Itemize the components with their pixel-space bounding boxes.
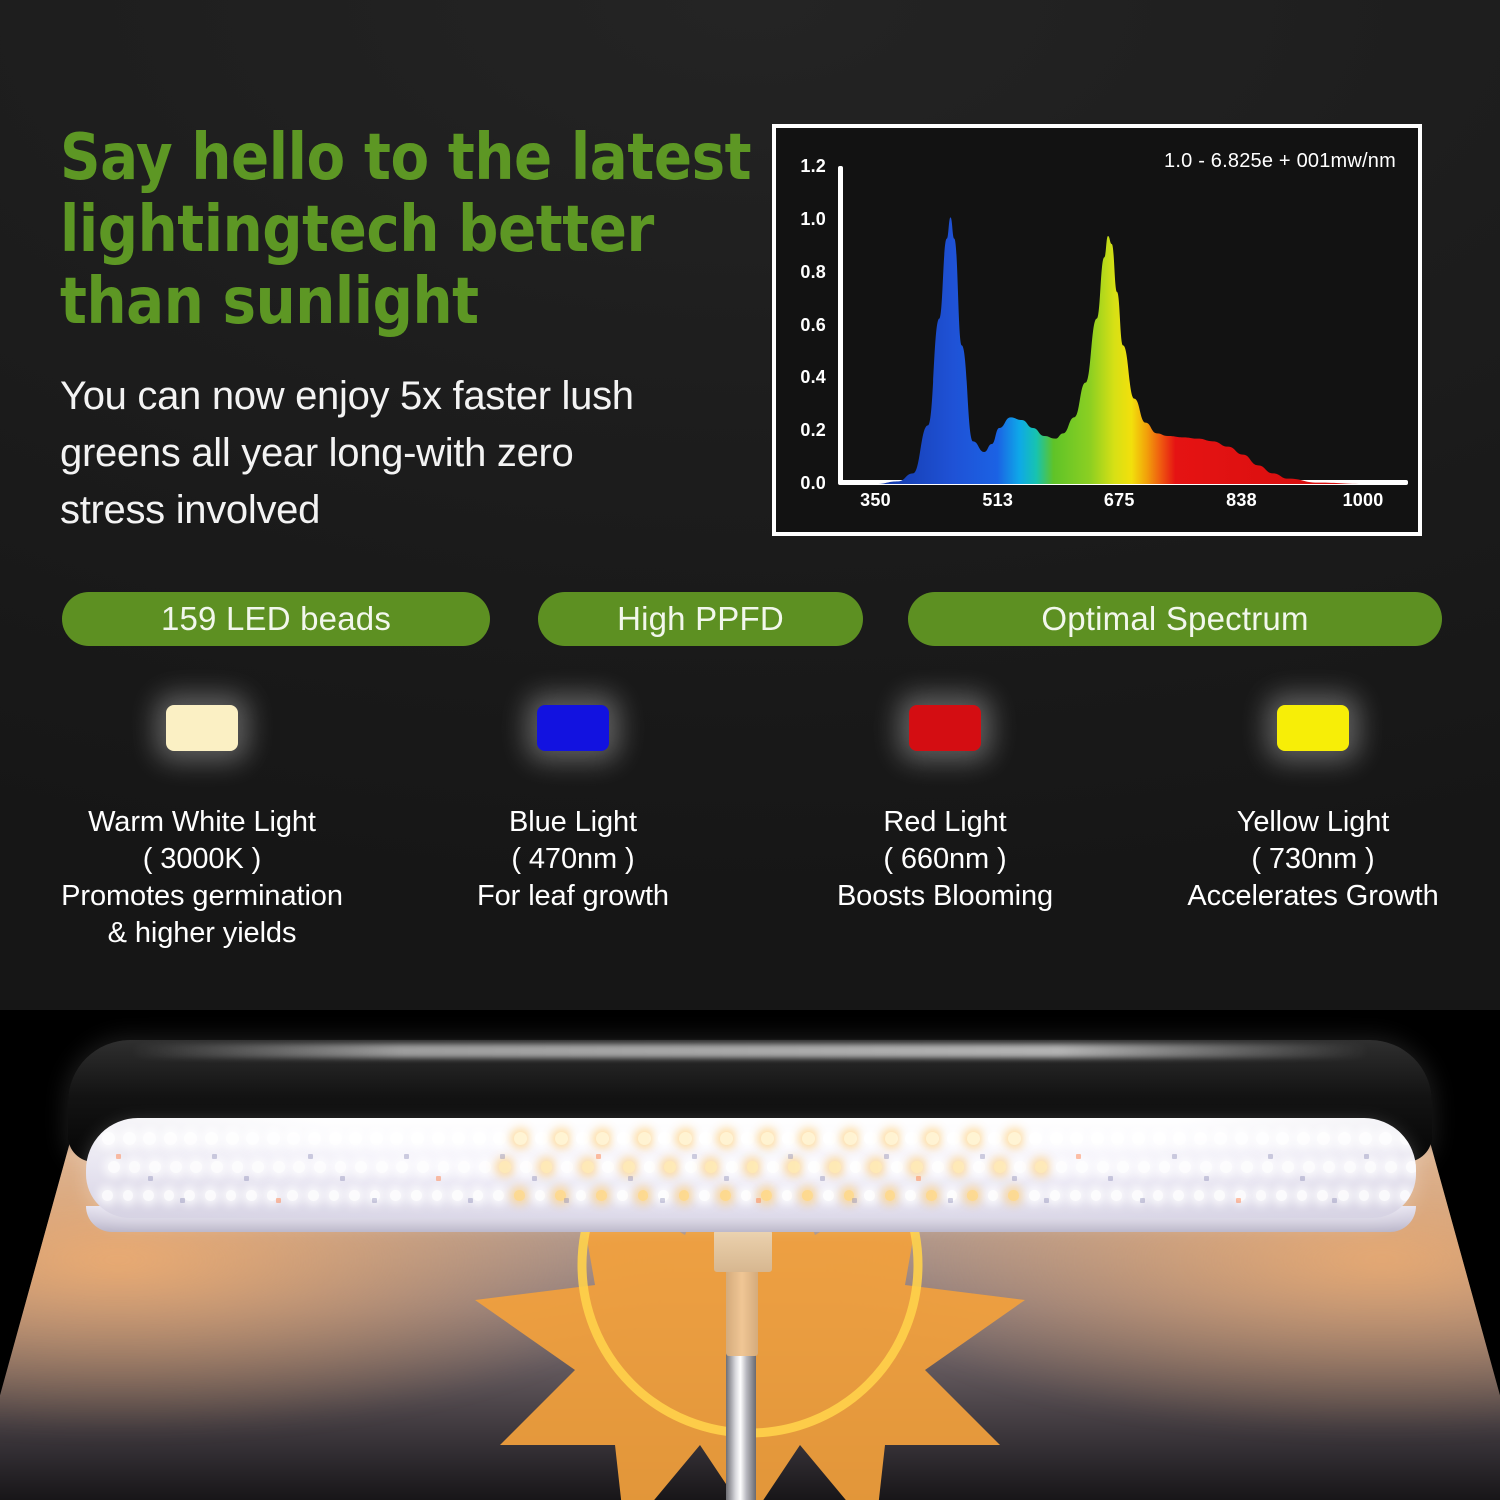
led-bead bbox=[170, 1161, 182, 1173]
led-type-name: Blue Light bbox=[477, 804, 669, 841]
led-bead bbox=[726, 1161, 738, 1173]
board-chip-marking bbox=[436, 1176, 441, 1181]
led-bead bbox=[432, 1190, 443, 1201]
led-bead bbox=[1050, 1132, 1063, 1145]
board-chip-marking bbox=[116, 1154, 121, 1159]
led-bead bbox=[994, 1161, 1006, 1173]
board-chip-marking bbox=[788, 1154, 793, 1159]
badge-label: High PPFD bbox=[617, 600, 784, 638]
board-chip-marking bbox=[340, 1176, 345, 1181]
lamp-pole bbox=[726, 1340, 756, 1500]
led-bead bbox=[1365, 1161, 1377, 1173]
led-bead bbox=[864, 1190, 875, 1201]
led-bead bbox=[720, 1132, 733, 1145]
spectrum-chart: 1.0 - 6.825e + 001mw/nm bbox=[772, 124, 1422, 536]
lamp-mount-rod bbox=[726, 1268, 758, 1356]
chart-y-tick: 1.2 bbox=[786, 156, 826, 177]
led-bead bbox=[1256, 1132, 1269, 1145]
chart-y-tick: 0.6 bbox=[786, 315, 826, 336]
led-bead bbox=[1262, 1161, 1274, 1173]
led-bead bbox=[308, 1132, 321, 1145]
led-bead bbox=[211, 1161, 223, 1173]
led-bead bbox=[329, 1132, 342, 1145]
led-bead bbox=[226, 1190, 237, 1201]
led-bead bbox=[287, 1190, 298, 1201]
led-bead bbox=[1194, 1190, 1205, 1201]
led-bead bbox=[823, 1190, 834, 1201]
led-bead bbox=[788, 1161, 800, 1173]
led-bead bbox=[1282, 1161, 1294, 1173]
led-bead bbox=[782, 1132, 795, 1145]
led-bead bbox=[947, 1132, 960, 1145]
badge-optimal-spectrum[interactable]: Optimal Spectrum bbox=[908, 592, 1442, 646]
led-bead bbox=[308, 1190, 319, 1201]
led-bead bbox=[432, 1132, 445, 1145]
led-bead bbox=[184, 1190, 195, 1201]
board-chip-marking bbox=[1044, 1198, 1049, 1203]
board-chip-marking bbox=[1172, 1154, 1177, 1159]
led-bead bbox=[355, 1161, 367, 1173]
led-bead bbox=[1297, 1132, 1310, 1145]
led-bead bbox=[349, 1190, 360, 1201]
led-bead bbox=[1303, 1161, 1315, 1173]
top-content-section: Say hello to the latest lightingtech bet… bbox=[0, 0, 1500, 1010]
led-bead bbox=[870, 1161, 882, 1173]
led-type-caption: Red Light ( 660nm ) Boosts Blooming bbox=[837, 804, 1053, 915]
led-type-name: Warm White Light bbox=[61, 804, 343, 841]
led-bead bbox=[679, 1132, 692, 1145]
led-bead bbox=[988, 1190, 999, 1201]
led-bead bbox=[164, 1190, 175, 1201]
led-bead bbox=[1200, 1161, 1212, 1173]
led-bead bbox=[376, 1161, 388, 1173]
led-bead bbox=[493, 1190, 504, 1201]
led-bead bbox=[417, 1161, 429, 1173]
led-bead bbox=[905, 1190, 916, 1201]
headline-line-3: than sunlight bbox=[60, 266, 676, 338]
badge-led-beads[interactable]: 159 LED beads bbox=[62, 592, 490, 646]
board-chip-marking bbox=[372, 1198, 377, 1203]
led-bead bbox=[1194, 1132, 1207, 1145]
led-bead bbox=[1276, 1190, 1287, 1201]
board-chip-marking bbox=[980, 1154, 985, 1159]
led-bead bbox=[1317, 1190, 1328, 1201]
page-headline: Say hello to the latest lightingtech bet… bbox=[60, 122, 676, 338]
board-chip-marking bbox=[628, 1176, 633, 1181]
led-bead bbox=[602, 1161, 614, 1173]
led-bead bbox=[885, 1190, 896, 1201]
board-chip-marking bbox=[564, 1198, 569, 1203]
headline-line-1: Say hello to the latest bbox=[60, 122, 676, 194]
led-bead bbox=[973, 1161, 985, 1173]
badge-label: 159 LED beads bbox=[161, 600, 391, 638]
board-chip-marking bbox=[180, 1198, 185, 1203]
led-board bbox=[86, 1118, 1416, 1218]
led-bead bbox=[1029, 1132, 1042, 1145]
board-chip-marking bbox=[916, 1176, 921, 1181]
board-chip-marking bbox=[1236, 1198, 1241, 1203]
led-bead bbox=[638, 1132, 651, 1145]
led-bead bbox=[205, 1132, 218, 1145]
chart-x-tick: 838 bbox=[1207, 490, 1277, 511]
spectrum-curve bbox=[838, 164, 1408, 484]
chart-y-tick: 0.4 bbox=[786, 367, 826, 388]
led-bead bbox=[802, 1190, 813, 1201]
led-bead bbox=[102, 1132, 115, 1145]
led-bead bbox=[679, 1190, 690, 1201]
led-bead bbox=[891, 1161, 903, 1173]
led-bead bbox=[747, 1161, 759, 1173]
led-bead bbox=[541, 1161, 553, 1173]
led-bead bbox=[1097, 1161, 1109, 1173]
led-bead bbox=[844, 1132, 857, 1145]
chart-x-tick: 350 bbox=[841, 490, 911, 511]
led-type-benefit-2: & higher yields bbox=[61, 915, 343, 952]
led-bead bbox=[623, 1161, 635, 1173]
led-bead bbox=[473, 1190, 484, 1201]
board-chip-marking bbox=[884, 1154, 889, 1159]
led-bead bbox=[1359, 1190, 1370, 1201]
board-chip-marking bbox=[1108, 1176, 1113, 1181]
led-type-spec: ( 470nm ) bbox=[477, 841, 669, 878]
chart-x-tick: 513 bbox=[963, 490, 1033, 511]
led-bead bbox=[1256, 1190, 1267, 1201]
led-bead bbox=[1179, 1161, 1191, 1173]
board-chip-marking bbox=[692, 1154, 697, 1159]
board-chip-marking bbox=[1332, 1198, 1337, 1203]
led-type-warm-white: Warm White Light ( 3000K ) Promotes germ… bbox=[17, 705, 387, 952]
led-bead bbox=[644, 1161, 656, 1173]
led-bead bbox=[479, 1161, 491, 1173]
led-bead bbox=[520, 1161, 532, 1173]
board-chip-marking bbox=[1268, 1154, 1273, 1159]
led-bead bbox=[638, 1190, 649, 1201]
chart-x-tick: 675 bbox=[1084, 490, 1154, 511]
led-bead bbox=[1338, 1190, 1349, 1201]
led-bead bbox=[685, 1161, 697, 1173]
led-bead bbox=[1379, 1190, 1390, 1201]
led-bead bbox=[1323, 1161, 1335, 1173]
led-type-benefit-1: Accelerates Growth bbox=[1187, 878, 1438, 915]
led-bead bbox=[1400, 1132, 1413, 1145]
lamp-housing-highlight bbox=[130, 1044, 1370, 1058]
led-bead bbox=[329, 1190, 340, 1201]
color-swatch-yellow bbox=[1277, 705, 1349, 751]
board-chip-marking bbox=[1076, 1154, 1081, 1159]
led-bead bbox=[1035, 1161, 1047, 1173]
led-bead bbox=[226, 1132, 239, 1145]
led-bead bbox=[102, 1190, 113, 1201]
board-chip-marking bbox=[660, 1198, 665, 1203]
led-type-benefit-1: Boosts Blooming bbox=[837, 878, 1053, 915]
board-chip-marking bbox=[212, 1154, 217, 1159]
led-type-name: Red Light bbox=[837, 804, 1053, 841]
led-bead bbox=[1138, 1161, 1150, 1173]
led-bead bbox=[767, 1161, 779, 1173]
led-bead bbox=[514, 1190, 525, 1201]
board-chip-marking bbox=[1140, 1198, 1145, 1203]
color-swatch-warm-white bbox=[166, 705, 238, 751]
led-bead bbox=[1070, 1190, 1081, 1201]
led-bead bbox=[1076, 1161, 1088, 1173]
board-chip-marking bbox=[1204, 1176, 1209, 1181]
chart-y-tick: 0.8 bbox=[786, 262, 826, 283]
led-bead bbox=[1159, 1161, 1171, 1173]
led-bead bbox=[885, 1132, 898, 1145]
infographic-page: Say hello to the latest lightingtech bet… bbox=[0, 0, 1500, 1500]
led-bead bbox=[1008, 1190, 1019, 1201]
lamp-mount-neck bbox=[714, 1230, 772, 1272]
led-bead bbox=[850, 1161, 862, 1173]
led-bead bbox=[1406, 1161, 1416, 1173]
led-bead bbox=[390, 1190, 401, 1201]
chart-plot-area: 1.0 - 6.825e + 001mw/nm bbox=[776, 128, 1418, 532]
led-bead bbox=[1220, 1161, 1232, 1173]
subtitle-line-1: You can now enjoy 5x faster lush bbox=[60, 368, 760, 425]
board-chip-marking bbox=[1300, 1176, 1305, 1181]
led-bead bbox=[1091, 1132, 1104, 1145]
led-bead bbox=[1153, 1190, 1164, 1201]
led-bead bbox=[232, 1161, 244, 1173]
led-type-spec: ( 660nm ) bbox=[837, 841, 1053, 878]
led-bead bbox=[1235, 1132, 1248, 1145]
led-bead bbox=[273, 1161, 285, 1173]
led-bead bbox=[411, 1190, 422, 1201]
led-bead bbox=[1173, 1190, 1184, 1201]
badge-high-ppfd[interactable]: High PPFD bbox=[538, 592, 863, 646]
board-chip-marking bbox=[276, 1198, 281, 1203]
led-bead bbox=[741, 1190, 752, 1201]
led-type-benefit-1: For leaf growth bbox=[477, 878, 669, 915]
board-chip-marking bbox=[596, 1154, 601, 1159]
color-swatch-red bbox=[909, 705, 981, 751]
badge-label: Optimal Spectrum bbox=[1041, 600, 1308, 638]
led-bead bbox=[1014, 1161, 1026, 1173]
page-subtitle: You can now enjoy 5x faster lush greens … bbox=[60, 368, 760, 539]
led-bead bbox=[1153, 1132, 1166, 1145]
board-chip-marking bbox=[852, 1198, 857, 1203]
led-bead bbox=[535, 1190, 546, 1201]
led-type-yellow: Yellow Light ( 730nm ) Accelerates Growt… bbox=[1128, 705, 1498, 915]
led-bead bbox=[499, 1161, 511, 1173]
led-type-name: Yellow Light bbox=[1187, 804, 1438, 841]
led-bead bbox=[1214, 1190, 1225, 1201]
led-type-caption: Yellow Light ( 730nm ) Accelerates Growt… bbox=[1187, 804, 1438, 915]
led-bead bbox=[293, 1161, 305, 1173]
led-bead bbox=[514, 1132, 527, 1145]
product-photo bbox=[0, 1010, 1500, 1500]
led-bead bbox=[411, 1132, 424, 1145]
led-bead bbox=[741, 1132, 754, 1145]
led-bead bbox=[953, 1161, 965, 1173]
led-bead bbox=[1338, 1132, 1351, 1145]
board-chip-marking bbox=[1012, 1176, 1017, 1181]
led-bead bbox=[699, 1190, 710, 1201]
led-bead bbox=[190, 1161, 202, 1173]
led-bead bbox=[823, 1132, 836, 1145]
led-bead bbox=[335, 1161, 347, 1173]
led-bead bbox=[911, 1161, 923, 1173]
board-chip-marking bbox=[724, 1176, 729, 1181]
led-bead bbox=[561, 1161, 573, 1173]
led-bead bbox=[164, 1132, 177, 1145]
color-swatch-blue bbox=[537, 705, 609, 751]
led-bead bbox=[720, 1190, 731, 1201]
led-bead bbox=[1117, 1161, 1129, 1173]
board-chip-marking bbox=[500, 1154, 505, 1159]
chart-y-tick: 0.0 bbox=[786, 473, 826, 494]
led-bead bbox=[1400, 1190, 1411, 1201]
led-bead bbox=[1056, 1161, 1068, 1173]
led-bead bbox=[438, 1161, 450, 1173]
led-bead bbox=[535, 1132, 548, 1145]
board-chip-marking bbox=[1364, 1154, 1369, 1159]
led-bead bbox=[370, 1132, 383, 1145]
led-bead bbox=[246, 1190, 257, 1201]
subtitle-line-3: stress involved bbox=[60, 482, 760, 539]
led-bead bbox=[123, 1132, 136, 1145]
led-bead bbox=[267, 1132, 280, 1145]
led-bead bbox=[314, 1161, 326, 1173]
led-bead bbox=[576, 1190, 587, 1201]
led-bead bbox=[1091, 1190, 1102, 1201]
led-bead bbox=[617, 1132, 630, 1145]
led-type-spec: ( 730nm ) bbox=[1187, 841, 1438, 878]
board-chip-marking bbox=[532, 1176, 537, 1181]
led-bead bbox=[396, 1161, 408, 1173]
board-chip-marking bbox=[148, 1176, 153, 1181]
led-bead bbox=[705, 1161, 717, 1173]
led-bead bbox=[829, 1161, 841, 1173]
led-bead bbox=[452, 1190, 463, 1201]
led-bead bbox=[576, 1132, 589, 1145]
board-chip-marking bbox=[948, 1198, 953, 1203]
led-bead bbox=[1241, 1161, 1253, 1173]
led-bead bbox=[1385, 1161, 1397, 1173]
board-chip-marking bbox=[820, 1176, 825, 1181]
board-chip-marking bbox=[756, 1198, 761, 1203]
led-bead bbox=[143, 1190, 154, 1201]
board-chip-marking bbox=[308, 1154, 313, 1159]
led-bead bbox=[123, 1190, 134, 1201]
led-bead bbox=[473, 1132, 486, 1145]
led-bead bbox=[926, 1132, 939, 1145]
headline-line-2: lightingtech better bbox=[60, 194, 676, 266]
led-bead bbox=[205, 1190, 216, 1201]
led-bead bbox=[596, 1190, 607, 1201]
led-bead bbox=[967, 1190, 978, 1201]
chart-y-tick: 0.2 bbox=[786, 420, 826, 441]
board-chip-marking bbox=[244, 1176, 249, 1181]
led-type-spec: ( 3000K ) bbox=[61, 841, 343, 878]
led-bead bbox=[149, 1161, 161, 1173]
led-bead bbox=[1132, 1132, 1145, 1145]
led-bead bbox=[782, 1190, 793, 1201]
led-type-blue: Blue Light ( 470nm ) For leaf growth bbox=[388, 705, 758, 915]
led-bead bbox=[1344, 1161, 1356, 1173]
led-bead bbox=[761, 1190, 772, 1201]
led-bead bbox=[617, 1190, 628, 1201]
led-bead bbox=[664, 1161, 676, 1173]
led-type-benefit-1: Promotes germination bbox=[61, 878, 343, 915]
subtitle-line-2: greens all year long-with zero bbox=[60, 425, 760, 482]
led-bead bbox=[129, 1161, 141, 1173]
led-bead bbox=[988, 1132, 1001, 1145]
board-chip-marking bbox=[468, 1198, 473, 1203]
led-bead bbox=[108, 1161, 120, 1173]
chart-x-tick: 1000 bbox=[1328, 490, 1398, 511]
led-bead bbox=[1029, 1190, 1040, 1201]
led-bead bbox=[1297, 1190, 1308, 1201]
led-type-caption: Warm White Light ( 3000K ) Promotes germ… bbox=[61, 804, 343, 952]
led-bead bbox=[1111, 1190, 1122, 1201]
led-bead bbox=[458, 1161, 470, 1173]
led-bead bbox=[252, 1161, 264, 1173]
led-type-red: Red Light ( 660nm ) Boosts Blooming bbox=[760, 705, 1130, 915]
led-bead bbox=[808, 1161, 820, 1173]
chart-y-tick: 1.0 bbox=[786, 209, 826, 230]
led-bead bbox=[582, 1161, 594, 1173]
led-bead bbox=[932, 1161, 944, 1173]
board-chip-marking bbox=[404, 1154, 409, 1159]
led-bead bbox=[1359, 1132, 1372, 1145]
led-type-caption: Blue Light ( 470nm ) For leaf growth bbox=[477, 804, 669, 915]
led-bead bbox=[1050, 1190, 1061, 1201]
led-bead bbox=[926, 1190, 937, 1201]
